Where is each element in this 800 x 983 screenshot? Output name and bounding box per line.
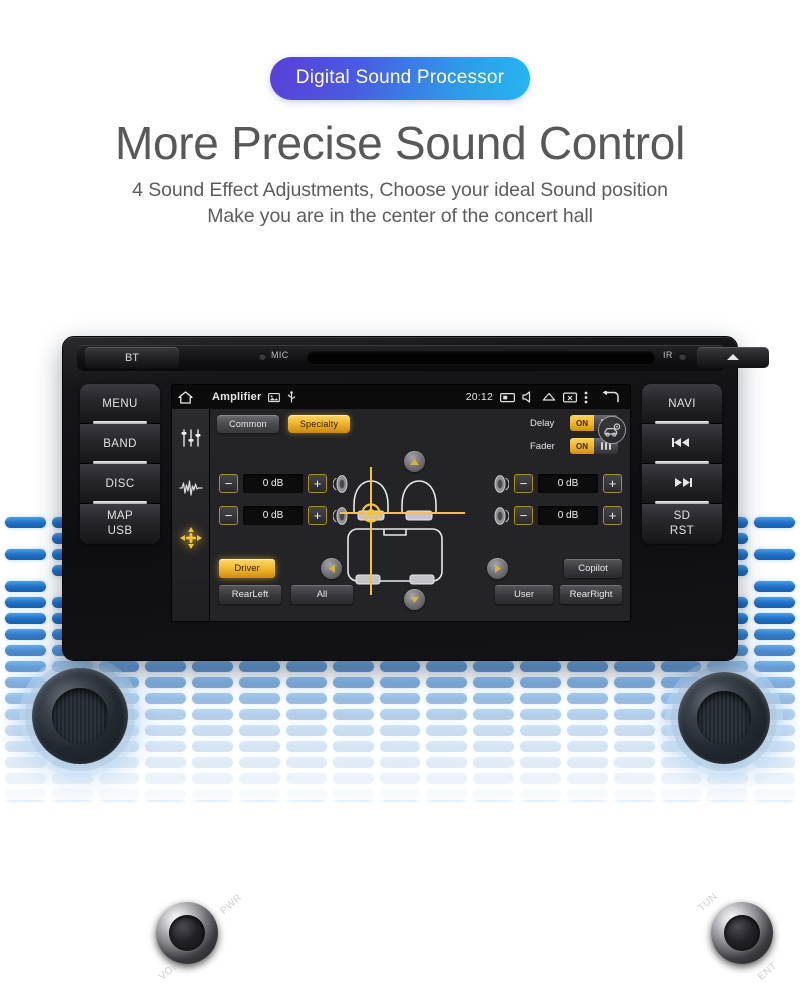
left-arrow-icon[interactable] [321,558,342,579]
eq-segment [426,677,467,688]
eq-segment [192,741,233,752]
eq-segment [333,741,374,752]
header: Digital Sound Processor More Precise Sou… [0,0,800,228]
eq-segment [5,757,46,768]
ent-label: ENT [756,960,780,982]
delay-toggle-state: ON [570,415,594,431]
fader-label: Fader [530,441,562,452]
eq-segment [754,549,795,560]
eq-segment [99,773,140,784]
eq-segment [707,789,748,800]
mode-rail [172,409,210,622]
page-title: More Precise Sound Control [0,116,800,170]
tab-specialty[interactable]: Specialty [288,415,350,433]
eq-segment [5,773,46,784]
speaker-icon-rear-right [492,505,509,526]
back-arrow-icon[interactable] [601,391,620,403]
eq-segment [380,757,421,768]
eq-segment [239,693,280,704]
left-key-cluster: MENU BAND DISC MAP USB [80,384,160,544]
navi-button[interactable]: NAVI [642,384,722,424]
eq-segment [520,741,561,752]
mute-icon[interactable] [522,391,535,403]
eq-segment [567,677,608,688]
eq-segment [333,661,374,672]
tun-label: TUN [696,891,720,914]
eq-segment [426,661,467,672]
eq-segment [99,661,140,672]
eq-segment [661,757,702,768]
eq-segment [614,709,655,720]
rear-right-value: 0 dB [538,506,598,525]
home-icon[interactable] [178,391,193,404]
disc-button-label: DISC [105,478,134,490]
eq-segment [426,709,467,720]
eq-segment [380,661,421,672]
eq-segment [5,661,46,672]
rst-button-label: RST [670,525,694,538]
navi-button-label: NAVI [668,398,696,410]
eq-segment [286,789,327,800]
eq-segment [473,725,514,736]
eject-icon [726,349,740,367]
waveform-icon[interactable] [178,475,204,501]
eq-segment [754,581,795,592]
speaker-woofer-right [678,672,770,764]
eq-segment [520,709,561,720]
eq-segment [614,677,655,688]
rear-right-plus-button[interactable]: + [603,506,622,525]
eq-segment [333,709,374,720]
eq-segment [520,789,561,800]
eq-segment [52,773,93,784]
eq-segment [192,789,233,800]
front-left-value: 0 dB [243,474,303,493]
eq-segment [145,677,186,688]
rear-right-minus-button[interactable]: − [514,506,533,525]
eq-segment [754,597,795,608]
sd-button-label: SD [674,510,691,523]
preset-user[interactable]: User [495,585,553,604]
badge-digital-sound-processor: Digital Sound Processor [270,57,530,100]
eject-button[interactable] [697,347,769,368]
eq-segment [192,709,233,720]
eq-segment [145,757,186,768]
eq-segment [661,661,702,672]
volume-power-knob[interactable] [156,902,218,964]
eq-segment [426,773,467,784]
front-right-value: 0 dB [538,474,598,493]
eq-segment [5,613,46,624]
eq-segment [99,789,140,800]
eq-segment [239,757,280,768]
eq-segment [5,549,46,560]
tune-enter-knob[interactable] [711,902,773,964]
eq-segment [239,789,280,800]
eq-segment [333,773,374,784]
eq-segment [754,613,795,624]
eq-segment-empty [5,565,46,576]
eq-segment [52,789,93,800]
level-front-right: − 0 dB + [492,473,622,494]
overflow-menu-icon[interactable] [584,391,588,404]
eq-segment [426,725,467,736]
car-stereo-head-unit: BT MIC IR MENU BAND DISC MAP USB NAVI [62,336,738,661]
amplifier-panel: Common Specialty Delay ON Fader [210,409,630,622]
up-arrow-icon[interactable] [404,451,425,472]
eq-segment [380,741,421,752]
eq-segment [567,661,608,672]
screen-title: Amplifier [212,391,261,403]
eq-segment [567,757,608,768]
speaker-icon-front-right [492,473,509,494]
eq-segment [473,661,514,672]
eq-segment [239,741,280,752]
speaker-woofer-left [32,668,128,764]
eq-segment [520,725,561,736]
pwr-label: PWR [219,892,245,917]
eq-segment [192,693,233,704]
rear-left-plus-button[interactable]: + [308,506,327,525]
eq-segment [99,757,140,768]
equalizer-icon[interactable] [178,425,204,451]
disc-slot[interactable] [307,351,655,364]
eq-segment [754,757,795,768]
eq-segment [661,789,702,800]
eq-segment [614,741,655,752]
eq-segment [754,661,795,672]
eq-segment [5,677,46,688]
band-button-label: BAND [103,438,137,450]
eq-segment [473,773,514,784]
eq-segment [520,693,561,704]
eq-segment [192,677,233,688]
eq-segment [333,757,374,768]
eq-segment [473,741,514,752]
eq-segment-empty [5,533,46,544]
eq-segment [380,677,421,688]
rear-left-minus-button[interactable]: − [219,506,238,525]
eq-segment [614,789,655,800]
preset-copilot[interactable]: Copilot [564,559,622,578]
eq-segment [239,773,280,784]
eq-segment [5,645,46,656]
eq-segment [286,661,327,672]
mic-label: MIC [271,350,289,360]
eq-segment [567,773,608,784]
eq-segment [286,741,327,752]
rear-left-value: 0 dB [243,506,303,525]
eq-segment [145,773,186,784]
eq-segment [520,661,561,672]
band-button[interactable]: BAND [80,424,160,464]
eq-segment [192,725,233,736]
front-left-plus-button[interactable]: + [308,474,327,493]
eq-segment [567,693,608,704]
map-usb-button[interactable]: MAP USB [80,504,160,544]
eq-segment [380,789,421,800]
eq-segment [333,789,374,800]
eq-segment [473,677,514,688]
subtitle-line-1: 4 Sound Effect Adjustments, Choose your … [0,179,800,202]
eq-segment [5,517,46,528]
eq-segment [239,677,280,688]
vol-label: VOL [157,960,181,982]
eq-segment [754,773,795,784]
eq-segment [567,741,608,752]
eq-segment [286,677,327,688]
eq-segment [614,693,655,704]
eq-segment [614,725,655,736]
eq-segment [145,789,186,800]
eq-segment [5,597,46,608]
eq-segment [239,725,280,736]
ir-receiver [679,353,686,360]
eq-segment [754,645,795,656]
status-bar: Amplifier 20:12 [172,385,630,409]
eq-segment [473,693,514,704]
bt-button[interactable]: BT [85,347,179,368]
previous-track-icon [672,437,692,451]
eq-segment [192,773,233,784]
previous-track-button[interactable] [642,424,722,464]
eq-segment [286,709,327,720]
next-track-button[interactable] [642,464,722,504]
eq-segment [426,693,467,704]
eq-segment [473,757,514,768]
eq-segment-empty [754,533,795,544]
front-left-minus-button[interactable]: − [219,474,238,493]
eq-segment [426,741,467,752]
eq-segment [333,693,374,704]
preset-rearright[interactable]: RearRight [560,585,622,604]
menu-button[interactable]: MENU [80,384,160,424]
eq-segment [333,677,374,688]
sd-rst-button[interactable]: SD RST [642,504,722,544]
eq-segment [239,709,280,720]
eq-segment [473,709,514,720]
eq-segment-empty [754,565,795,576]
level-rear-right: − 0 dB + [492,505,622,526]
eq-segment [707,773,748,784]
eq-segment [661,773,702,784]
ir-label: IR [663,350,673,360]
eq-segment [754,789,795,800]
eq-segment [380,693,421,704]
eq-segment [5,629,46,640]
eq-segment [614,773,655,784]
eq-segment [614,757,655,768]
level-rear-left: − 0 dB + [219,505,349,526]
eq-segment [286,693,327,704]
next-track-icon [672,477,692,491]
eq-segment [567,789,608,800]
eq-segment [520,773,561,784]
eq-segment [5,581,46,592]
eq-segment [5,789,46,800]
eq-segment [380,773,421,784]
screen-body: Common Specialty Delay ON Fader [172,409,630,622]
close-window-icon[interactable] [563,392,577,403]
tab-common[interactable]: Common [217,415,279,433]
eq-segment [286,757,327,768]
eq-segment [286,725,327,736]
eq-segment [754,677,795,688]
eq-segment [239,661,280,672]
eq-segment [380,709,421,720]
menu-button-label: MENU [102,398,137,410]
seat-position-map[interactable] [340,467,465,595]
fader-toggle-state: ON [570,438,594,454]
eq-segment [192,661,233,672]
position-grid: − 0 dB + − [217,467,623,619]
eq-segment [333,725,374,736]
eq-segment [754,629,795,640]
position-arrows-icon[interactable] [178,525,204,551]
eq-segment [614,661,655,672]
delay-label: Delay [530,418,562,429]
subtitle-line-2: Make you are in the center of the concer… [0,205,800,228]
eq-segment [145,709,186,720]
disc-button[interactable]: DISC [80,464,160,504]
front-right-minus-button[interactable]: − [514,474,533,493]
level-front-left: − 0 dB + [219,473,349,494]
usb-button-label: USB [108,525,133,538]
eq-segment [520,757,561,768]
eq-segment [192,757,233,768]
preset-driver[interactable]: Driver [219,559,275,578]
eq-column [2,517,49,800]
eq-segment [707,661,748,672]
preset-rearleft[interactable]: RearLeft [219,585,281,604]
down-arrow-icon[interactable] [404,589,425,610]
eq-segment [145,661,186,672]
eq-segment [567,709,608,720]
eject-icon[interactable] [542,392,556,402]
eq-segment [754,517,795,528]
eq-segment [380,725,421,736]
eq-segment [286,773,327,784]
screenshot-icon[interactable] [500,392,515,403]
right-key-cluster: NAVI SD RST [642,384,722,544]
eq-column [751,517,798,800]
eq-segment [567,725,608,736]
eq-segment [145,741,186,752]
car-settings-icon[interactable] [598,416,626,444]
eq-segment [520,677,561,688]
right-arrow-icon[interactable] [487,558,508,579]
eq-segment [145,693,186,704]
front-right-plus-button[interactable]: + [603,474,622,493]
clock: 20:12 [466,391,493,403]
eq-segment [426,789,467,800]
eq-segment [426,757,467,768]
preset-all[interactable]: All [291,585,353,604]
map-button-label: MAP [107,510,133,523]
touchscreen-display[interactable]: Amplifier 20:12 [171,384,631,622]
mic-hole [259,353,266,360]
eq-segment [473,789,514,800]
usb-icon [287,391,296,404]
sd-card-icon [268,392,280,403]
eq-segment [145,725,186,736]
